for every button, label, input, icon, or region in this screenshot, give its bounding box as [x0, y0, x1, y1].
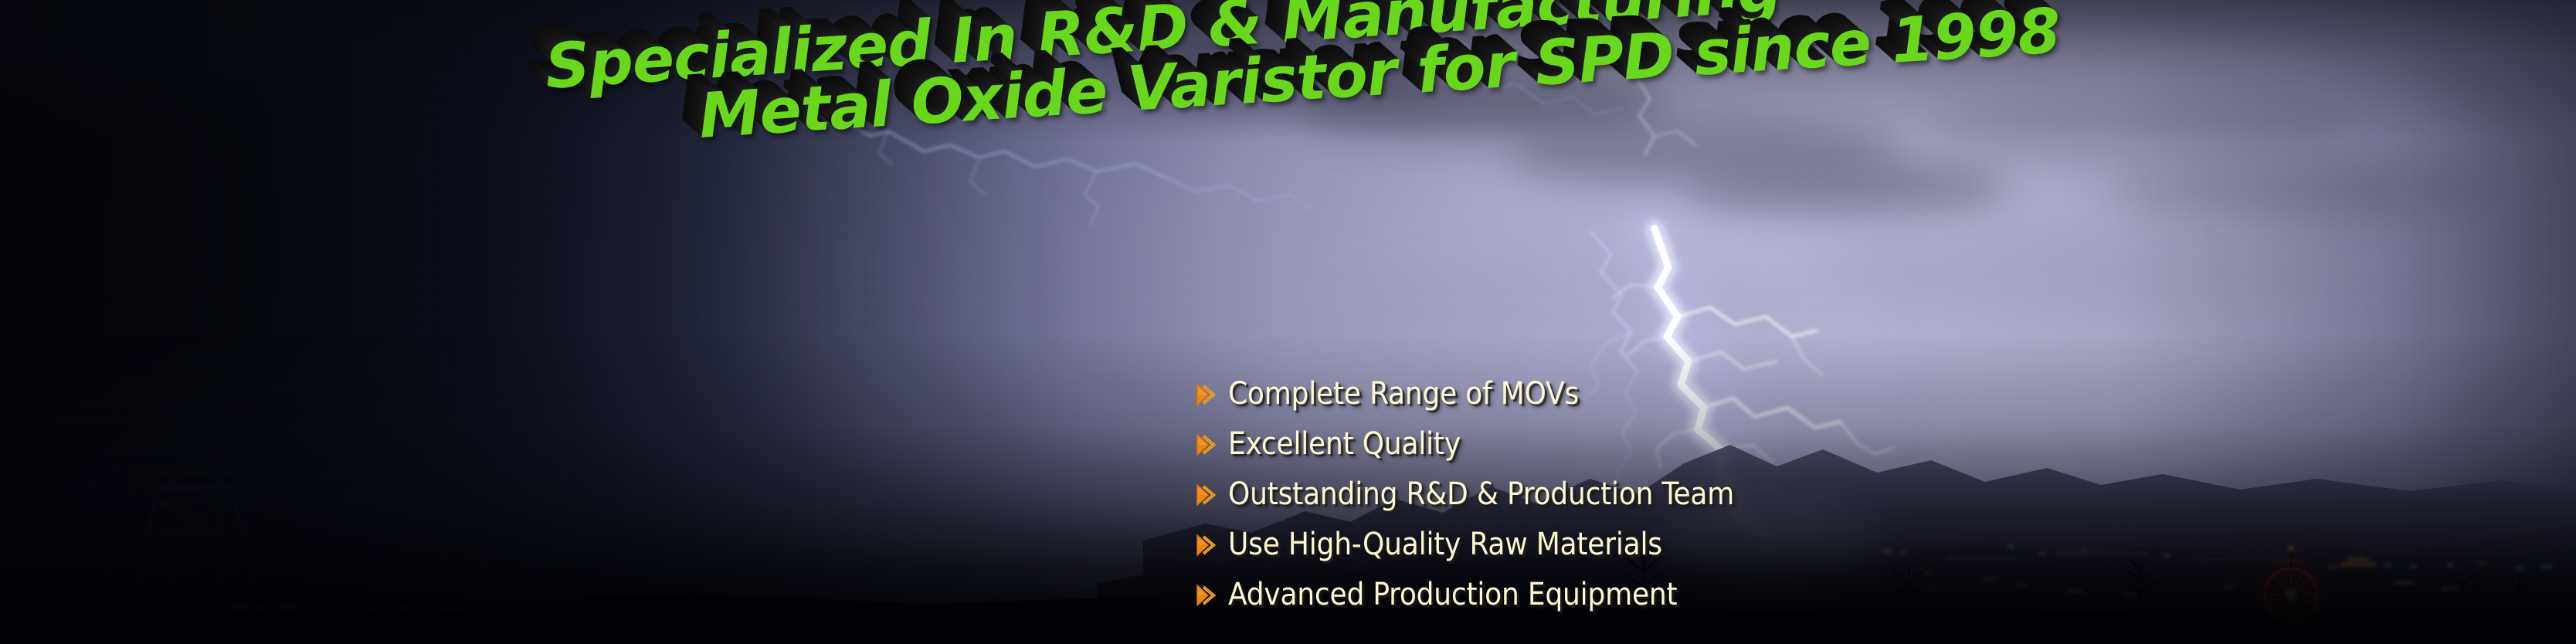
double-chevron-right-icon: [1196, 383, 1217, 406]
list-item-label: Outstanding R&D & Production Team: [1228, 479, 1734, 510]
list-item-4: Use High-Quality Raw Materials: [1196, 519, 1734, 569]
promo-banner: Specialized In R&D & Manufacturing Metal…: [0, 0, 2576, 644]
double-chevron-right-icon: [1196, 584, 1217, 607]
list-item-1: Complete Range of MOVs: [1196, 368, 1734, 419]
list-item-label: Use High-Quality Raw Materials: [1228, 529, 1662, 560]
double-chevron-right-icon: [1196, 433, 1217, 456]
list-item-label: Complete Range of MOVs: [1228, 378, 1579, 409]
list-item-label: Excellent Quality: [1228, 429, 1461, 459]
list-item-2: Excellent Quality: [1196, 419, 1734, 469]
feature-bullet-list: Complete Range of MOVs Excellent Quality…: [1196, 368, 1734, 619]
list-item-5: Advanced Production Equipment: [1196, 569, 1734, 619]
double-chevron-right-icon: [1196, 483, 1217, 507]
list-item-label: Advanced Production Equipment: [1228, 579, 1677, 610]
list-item-3: Outstanding R&D & Production Team: [1196, 469, 1734, 519]
double-chevron-right-icon: [1196, 534, 1217, 557]
